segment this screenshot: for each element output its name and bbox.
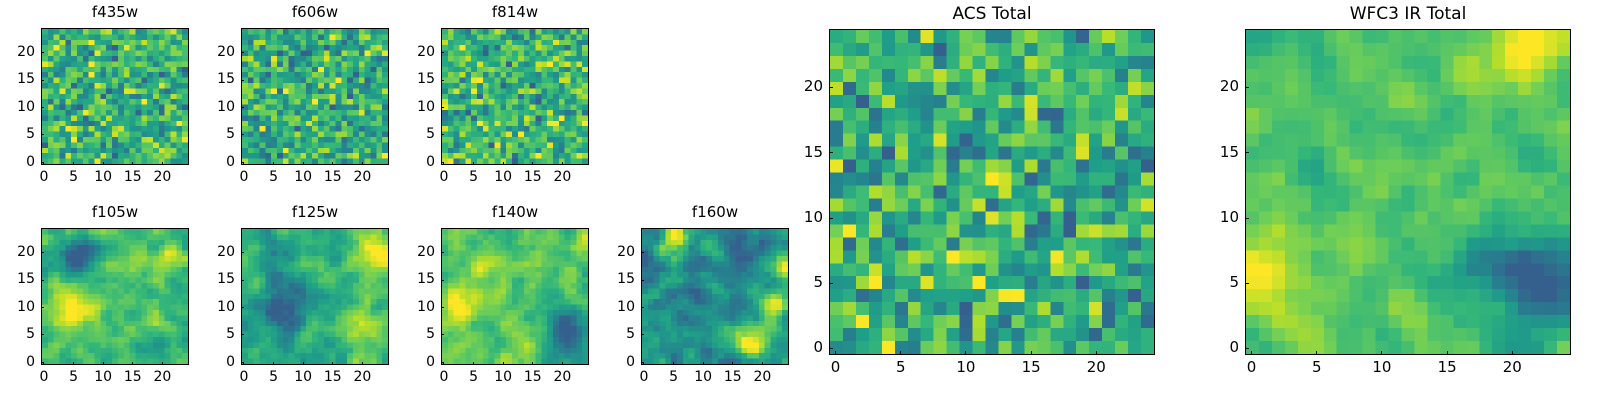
ytick-mark <box>41 334 44 335</box>
xtick-mark <box>132 362 133 365</box>
xtick-label: 5 <box>1292 360 1342 375</box>
xtick-label: 15 <box>108 170 158 184</box>
xtick-label: 20 <box>1487 360 1537 375</box>
xtick-label: 10 <box>278 370 328 384</box>
xtick-label: 15 <box>308 370 358 384</box>
xtick-label: 0 <box>419 370 469 384</box>
xtick-label: 20 <box>137 170 187 184</box>
xtick-mark <box>503 162 504 165</box>
xtick-mark <box>835 351 836 355</box>
xtick-mark <box>732 362 733 365</box>
ytick-mark <box>441 134 444 135</box>
panel-title-f140w: f140w <box>441 205 589 220</box>
xtick-label: 20 <box>537 170 587 184</box>
ytick-label: 10 <box>397 100 435 114</box>
panel-title-f125w: f125w <box>241 205 389 220</box>
ytick-mark <box>41 52 44 53</box>
xtick-label: 20 <box>1071 360 1121 375</box>
ytick-mark <box>41 107 44 108</box>
xtick-mark <box>1447 351 1448 355</box>
ytick-mark <box>441 280 444 281</box>
panel-title-f606w: f606w <box>241 5 389 20</box>
heatmap-image-f606w <box>242 29 388 164</box>
heatmap-image-f105w <box>42 229 188 364</box>
ytick-mark <box>41 280 44 281</box>
ytick-mark <box>441 307 444 308</box>
panel-f125w: f125w0510152005101520 <box>0 0 1600 400</box>
xtick-label: 10 <box>478 370 528 384</box>
plot-area-f105w <box>41 228 189 365</box>
xtick-mark <box>243 362 244 365</box>
ytick-label: 5 <box>785 275 823 290</box>
ytick-label: 10 <box>0 100 35 114</box>
ytick-mark <box>829 152 833 153</box>
plot-area-acs-total <box>829 29 1155 355</box>
plot-area-f140w <box>441 228 589 365</box>
xtick-mark <box>162 362 163 365</box>
ytick-label: 20 <box>0 45 35 59</box>
xtick-label: 20 <box>737 370 787 384</box>
ytick-label: 20 <box>197 245 235 259</box>
xtick-label: 0 <box>219 370 269 384</box>
ytick-label: 15 <box>0 72 35 86</box>
heatmap-image-acs-total <box>830 30 1154 354</box>
ytick-label: 0 <box>0 155 35 169</box>
ytick-mark <box>829 87 833 88</box>
ytick-mark <box>241 307 244 308</box>
xtick-label: 10 <box>678 370 728 384</box>
panel-f105w: f105w0510152005101520 <box>0 0 1600 400</box>
ytick-mark <box>1245 152 1249 153</box>
panel-f814w: f814w0510152005101520 <box>0 0 1600 400</box>
ytick-mark <box>41 80 44 81</box>
ytick-mark <box>441 252 444 253</box>
ytick-label: 10 <box>197 100 235 114</box>
ytick-label: 0 <box>397 155 435 169</box>
ytick-mark <box>41 134 44 135</box>
xtick-mark <box>43 162 44 165</box>
xtick-label: 10 <box>78 370 128 384</box>
ytick-mark <box>41 252 44 253</box>
panel-f435w: f435w0510152005101520 <box>0 0 1600 400</box>
xtick-mark <box>303 162 304 165</box>
xtick-mark <box>703 362 704 365</box>
plot-area-f160w <box>641 228 789 365</box>
xtick-label: 5 <box>649 370 699 384</box>
xtick-mark <box>965 351 966 355</box>
xtick-mark <box>900 351 901 355</box>
ytick-mark <box>241 162 244 163</box>
xtick-mark <box>762 362 763 365</box>
panel-wfc3-ir-total: WFC3 IR Total0510152005101520 <box>0 0 1600 400</box>
xtick-mark <box>362 162 363 165</box>
xtick-label: 10 <box>941 360 991 375</box>
xtick-mark <box>1031 351 1032 355</box>
panel-title-f105w: f105w <box>41 205 189 220</box>
xtick-label: 20 <box>137 370 187 384</box>
ytick-label: 20 <box>1201 79 1239 94</box>
ytick-mark <box>829 348 833 349</box>
ytick-mark <box>241 107 244 108</box>
ytick-mark <box>441 107 444 108</box>
xtick-label: 10 <box>1357 360 1407 375</box>
heatmap-image-f435w <box>42 29 188 164</box>
ytick-mark <box>241 334 244 335</box>
xtick-label: 5 <box>449 370 499 384</box>
xtick-label: 20 <box>337 170 387 184</box>
ytick-label: 10 <box>0 300 35 314</box>
ytick-mark <box>829 218 833 219</box>
ytick-label: 0 <box>1201 340 1239 355</box>
ytick-label: 20 <box>197 45 235 59</box>
xtick-label: 5 <box>49 170 99 184</box>
ytick-label: 15 <box>397 272 435 286</box>
figure-canvas: f435w0510152005101520f606w05101520051015… <box>0 0 1600 400</box>
xtick-label: 0 <box>19 370 69 384</box>
xtick-mark <box>1381 351 1382 355</box>
xtick-label: 10 <box>278 170 328 184</box>
xtick-mark <box>562 162 563 165</box>
panel-f160w: f160w0510152005101520 <box>0 0 1600 400</box>
xtick-label: 0 <box>219 170 269 184</box>
ytick-label: 0 <box>0 355 35 369</box>
ytick-label: 0 <box>597 355 635 369</box>
xtick-mark <box>103 162 104 165</box>
ytick-label: 0 <box>785 340 823 355</box>
xtick-label: 15 <box>508 170 558 184</box>
ytick-mark <box>241 80 244 81</box>
xtick-mark <box>73 162 74 165</box>
panel-f606w: f606w0510152005101520 <box>0 0 1600 400</box>
panel-title-f160w: f160w <box>641 205 789 220</box>
xtick-label: 20 <box>337 370 387 384</box>
ytick-mark <box>41 162 44 163</box>
xtick-label: 5 <box>449 170 499 184</box>
xtick-label: 15 <box>1006 360 1056 375</box>
ytick-label: 5 <box>397 327 435 341</box>
xtick-mark <box>1096 351 1097 355</box>
xtick-mark <box>273 362 274 365</box>
xtick-mark <box>532 362 533 365</box>
xtick-label: 5 <box>249 370 299 384</box>
ytick-label: 10 <box>597 300 635 314</box>
xtick-label: 15 <box>108 370 158 384</box>
ytick-mark <box>241 362 244 363</box>
xtick-label: 5 <box>249 170 299 184</box>
heatmap-image-f125w <box>242 229 388 364</box>
ytick-label: 10 <box>397 300 435 314</box>
ytick-label: 5 <box>597 327 635 341</box>
ytick-mark <box>241 52 244 53</box>
xtick-label: 15 <box>708 370 758 384</box>
xtick-label: 0 <box>1227 360 1277 375</box>
xtick-mark <box>643 362 644 365</box>
xtick-mark <box>162 162 163 165</box>
xtick-label: 20 <box>537 370 587 384</box>
xtick-mark <box>332 162 333 165</box>
xtick-mark <box>1251 351 1252 355</box>
heatmap-image-wfc3-ir-total <box>1246 30 1570 354</box>
ytick-label: 20 <box>397 45 435 59</box>
xtick-label: 0 <box>19 170 69 184</box>
ytick-mark <box>441 52 444 53</box>
ytick-mark <box>441 334 444 335</box>
xtick-label: 5 <box>876 360 926 375</box>
xtick-mark <box>443 162 444 165</box>
ytick-label: 20 <box>397 245 435 259</box>
xtick-label: 0 <box>619 370 669 384</box>
xtick-mark <box>562 362 563 365</box>
xtick-mark <box>673 362 674 365</box>
xtick-mark <box>362 362 363 365</box>
ytick-mark <box>441 162 444 163</box>
ytick-label: 0 <box>197 355 235 369</box>
ytick-mark <box>441 362 444 363</box>
ytick-label: 5 <box>197 327 235 341</box>
heatmap-image-f160w <box>642 229 788 364</box>
ytick-label: 20 <box>785 79 823 94</box>
ytick-mark <box>241 280 244 281</box>
xtick-mark <box>303 362 304 365</box>
panel-title-f435w: f435w <box>41 5 189 20</box>
xtick-label: 10 <box>478 170 528 184</box>
xtick-mark <box>443 362 444 365</box>
xtick-mark <box>503 362 504 365</box>
plot-area-wfc3-ir-total <box>1245 29 1571 355</box>
ytick-mark <box>1245 218 1249 219</box>
xtick-label: 15 <box>508 370 558 384</box>
xtick-mark <box>43 362 44 365</box>
xtick-mark <box>1512 351 1513 355</box>
ytick-mark <box>1245 87 1249 88</box>
xtick-mark <box>473 362 474 365</box>
xtick-label: 15 <box>1422 360 1472 375</box>
ytick-mark <box>641 334 644 335</box>
ytick-mark <box>641 252 644 253</box>
xtick-label: 10 <box>78 170 128 184</box>
panel-title-f814w: f814w <box>441 5 589 20</box>
xtick-mark <box>332 362 333 365</box>
xtick-label: 5 <box>49 370 99 384</box>
ytick-label: 5 <box>397 127 435 141</box>
xtick-label: 0 <box>419 170 469 184</box>
ytick-label: 5 <box>1201 275 1239 290</box>
xtick-mark <box>273 162 274 165</box>
ytick-label: 0 <box>397 355 435 369</box>
ytick-mark <box>1245 348 1249 349</box>
xtick-mark <box>103 362 104 365</box>
ytick-label: 10 <box>1201 210 1239 225</box>
xtick-mark <box>243 162 244 165</box>
panel-f140w: f140w0510152005101520 <box>0 0 1600 400</box>
ytick-label: 15 <box>0 272 35 286</box>
ytick-mark <box>641 362 644 363</box>
plot-area-f125w <box>241 228 389 365</box>
xtick-label: 0 <box>811 360 861 375</box>
ytick-label: 15 <box>1201 145 1239 160</box>
ytick-label: 5 <box>197 127 235 141</box>
ytick-label: 15 <box>597 272 635 286</box>
ytick-label: 15 <box>397 72 435 86</box>
ytick-label: 15 <box>785 145 823 160</box>
ytick-label: 20 <box>597 245 635 259</box>
xtick-mark <box>73 362 74 365</box>
xtick-mark <box>532 162 533 165</box>
ytick-label: 15 <box>197 72 235 86</box>
ytick-mark <box>41 307 44 308</box>
ytick-mark <box>441 80 444 81</box>
plot-area-f435w <box>41 28 189 165</box>
plot-area-f606w <box>241 28 389 165</box>
ytick-label: 20 <box>0 245 35 259</box>
ytick-label: 0 <box>197 155 235 169</box>
xtick-mark <box>132 162 133 165</box>
ytick-mark <box>641 280 644 281</box>
ytick-label: 10 <box>785 210 823 225</box>
xtick-label: 15 <box>308 170 358 184</box>
ytick-label: 15 <box>197 272 235 286</box>
ytick-mark <box>241 134 244 135</box>
heatmap-image-f140w <box>442 229 588 364</box>
heatmap-image-f814w <box>442 29 588 164</box>
ytick-mark <box>1245 283 1249 284</box>
panel-title-acs-total: ACS Total <box>829 6 1155 23</box>
xtick-mark <box>1316 351 1317 355</box>
ytick-label: 5 <box>0 127 35 141</box>
ytick-label: 5 <box>0 327 35 341</box>
ytick-mark <box>41 362 44 363</box>
plot-area-f814w <box>441 28 589 165</box>
ytick-mark <box>829 283 833 284</box>
ytick-mark <box>241 252 244 253</box>
ytick-mark <box>641 307 644 308</box>
panel-acs-total: ACS Total0510152005101520 <box>0 0 1600 400</box>
ytick-label: 10 <box>197 300 235 314</box>
panel-title-wfc3-ir-total: WFC3 IR Total <box>1245 6 1571 23</box>
xtick-mark <box>473 162 474 165</box>
